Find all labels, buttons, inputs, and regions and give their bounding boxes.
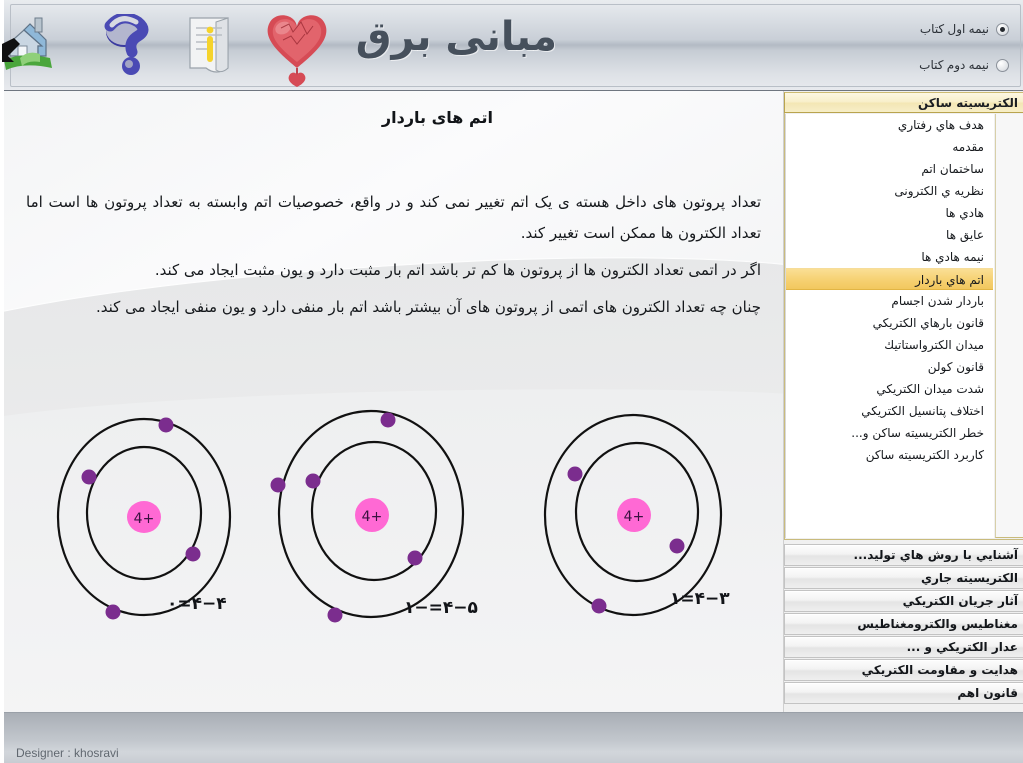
menu-item-5[interactable]: عایق ها (782, 224, 989, 246)
menu-item-15[interactable]: کاربرد الکتریسیته ساکن (782, 444, 989, 466)
accordion-collapsed-sections: آشنایي با روش هاي تولید... الکتریسیته جا… (780, 543, 1023, 704)
paragraph-1: تعداد پروتون های داخل هسته ی یک اتم تغیی… (22, 187, 757, 249)
section-header-circuits[interactable]: عدار الکتریکي و ... (780, 636, 1023, 658)
menu-item-1[interactable]: مقدمه (782, 136, 989, 158)
info-document-icon[interactable] (176, 14, 238, 85)
application-window: مبانی برق نیمه اول کتاب نیمه دوم کتاب ات… (0, 0, 1023, 763)
menu-item-13[interactable]: اختلاف پتانسیل الکتریکي (782, 400, 989, 422)
section-header-current-electricity[interactable]: الکتریسیته جاري (780, 567, 1023, 589)
section-header-ohms-law[interactable]: قانون اهم (780, 682, 1023, 704)
menu-item-6[interactable]: نیمه هادي ها (782, 246, 989, 268)
paragraph-2: اگر در اتمی تعداد الکترون ها از پروتون ه… (22, 255, 757, 286)
menu-item-0[interactable]: هدف هاي رفتاري (782, 114, 989, 136)
atom-equation-negative: ۴−۵=−۱ (400, 598, 474, 618)
radio-second-half-indicator[interactable] (992, 59, 1005, 72)
navigation-sidebar: الکتریسیته ساکن هدف هاي رفتاري مقدمه ساخ… (779, 91, 1023, 712)
menu-item-11[interactable]: قانون کولن (782, 356, 989, 378)
paragraph-3: چنان چه تعداد الکترون های اتمی از پروتون… (22, 292, 757, 323)
atom-diagram-group: +4 ۴−۴=۰ +4 (0, 411, 779, 661)
nucleus-charge-label: +4 (130, 511, 151, 527)
atom-diagram-positive-ion: +4 ۴−۳=۱ (520, 411, 770, 641)
app-footer: Designer : khosravi (0, 712, 1023, 763)
menu-list: هدف هاي رفتاري مقدمه ساختمان اتم نظریه ي… (781, 114, 990, 538)
page-title: اتم های باردار (378, 108, 489, 127)
lesson-body-text: تعداد پروتون های داخل هسته ی یک اتم تغیی… (22, 187, 757, 329)
radio-second-half[interactable]: نیمه دوم کتاب (855, 52, 1005, 78)
radio-first-half[interactable]: نیمه اول کتاب (855, 16, 1005, 42)
home-icon[interactable] (0, 10, 68, 85)
designer-credit: Designer : khosravi (12, 746, 115, 760)
menu-item-14[interactable]: خطر الکتریسیته ساکن و... (782, 422, 989, 444)
menu-item-2[interactable]: ساختمان اتم (782, 158, 989, 180)
section-header-production-methods[interactable]: آشنایي با روش هاي تولید... (780, 544, 1023, 566)
menu-side-rail (991, 114, 1022, 538)
section-header-conductance-resistance[interactable]: هدایت و مقاومت الکتریکي (780, 659, 1023, 681)
app-title: مبانی برق (352, 14, 553, 60)
section-header-current-effects[interactable]: آثار جریان الکتریکي (780, 590, 1023, 612)
atom-equation-positive: ۴−۳=۱ (666, 589, 726, 609)
menu-item-9[interactable]: قانون بارهاي الکتریکي (782, 312, 989, 334)
section-header-magnetism[interactable]: مغناطیس والکترومغناطیس (780, 613, 1023, 635)
radio-first-half-indicator[interactable] (992, 23, 1005, 36)
section-header-electrostatics[interactable]: الکتریسیته ساکن (780, 92, 1023, 113)
menu-item-7-active[interactable]: اتم هاي باردار (782, 268, 989, 290)
atom-diagram-negative-ion: +4 ۴−۵=−۱ (252, 406, 502, 636)
menu-item-12[interactable]: شدت میدان الکتریکي (782, 378, 989, 400)
menu-item-3[interactable]: نظریه ي الکترونی (782, 180, 989, 202)
book-half-radio-group[interactable]: نیمه اول کتاب نیمه دوم کتاب (855, 16, 1005, 78)
nucleus-charge-label: +4 (358, 509, 379, 525)
atom-diagram-neutral: +4 ۴−۴=۰ (18, 411, 268, 641)
app-header: مبانی برق نیمه اول کتاب نیمه دوم کتاب (0, 0, 1023, 91)
menu-item-8[interactable]: باردار شدن اجسام (782, 290, 989, 312)
help-question-icon[interactable] (98, 14, 158, 85)
atom-equation-neutral: ۴−۴=۰ (163, 594, 223, 614)
radio-second-half-label: نیمه دوم کتاب (915, 58, 985, 72)
content-area: اتم های باردار تعداد پروتون های داخل هست… (0, 91, 779, 712)
radio-first-half-label: نیمه اول کتاب (916, 22, 985, 36)
menu-item-10[interactable]: میدان الکترواستاتیك (782, 334, 989, 356)
menu-item-4[interactable]: هادي ها (782, 202, 989, 224)
heart-favorite-icon[interactable] (253, 6, 333, 93)
accordion-open-section: الکتریسیته ساکن هدف هاي رفتاري مقدمه ساخ… (780, 92, 1023, 541)
nucleus-charge-label: +4 (620, 509, 641, 525)
